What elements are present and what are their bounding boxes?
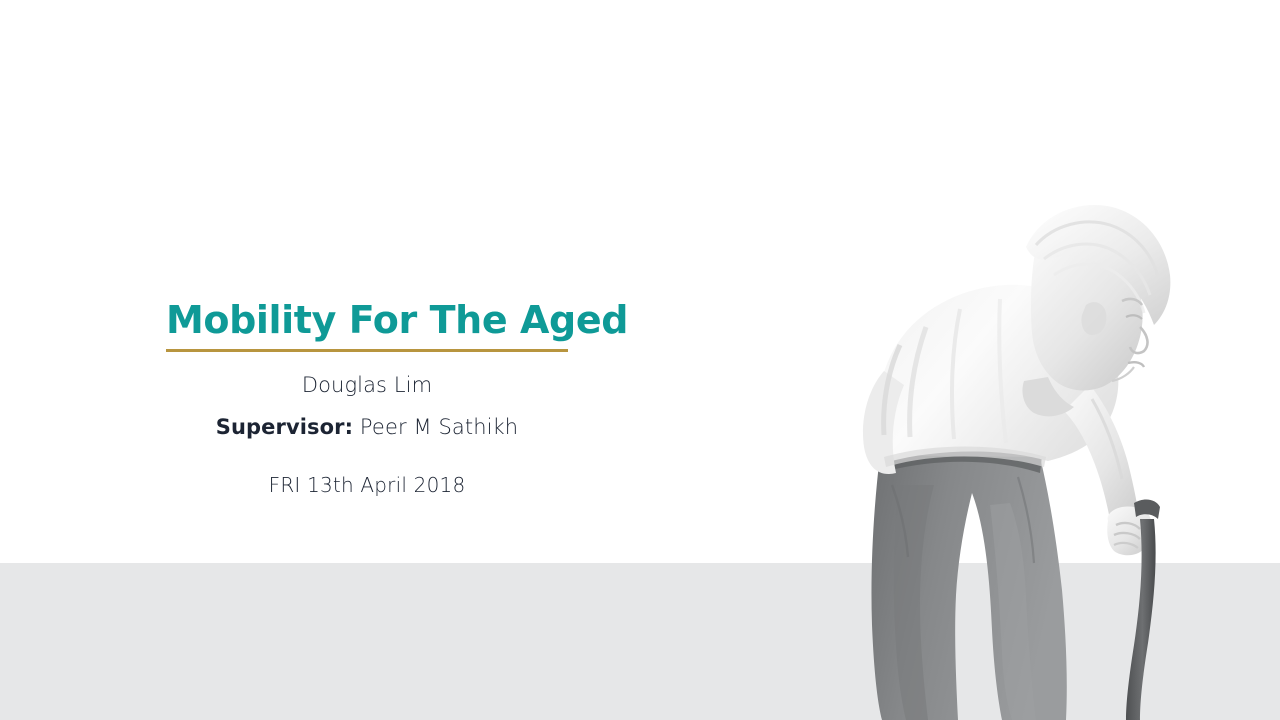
supervisor-line: Supervisor: Peer M Sathikh xyxy=(166,414,568,440)
presenter-name: Douglas Lim xyxy=(166,372,568,398)
floor-band xyxy=(0,563,1280,720)
presentation-date: FRI 13th April 2018 xyxy=(166,473,568,498)
supervisor-name: Peer M Sathikh xyxy=(353,415,518,439)
title-slide: Mobility For The Aged Douglas Lim Superv… xyxy=(0,0,1280,720)
supervisor-label: Supervisor: xyxy=(216,415,353,439)
title-block: Mobility For The Aged Douglas Lim Superv… xyxy=(166,300,568,498)
page-title: Mobility For The Aged xyxy=(166,300,568,345)
title-underline-rule xyxy=(166,349,568,352)
